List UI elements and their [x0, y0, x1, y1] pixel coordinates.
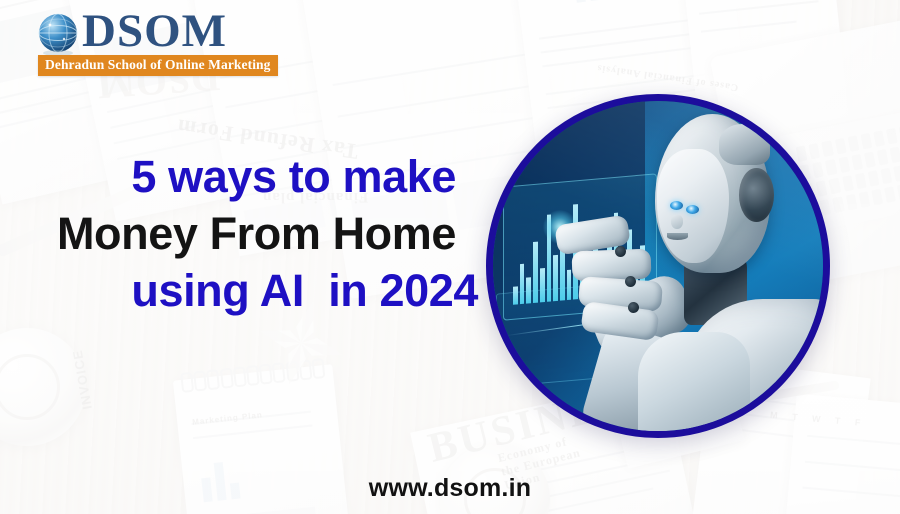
headline-line-3: using AI in 2024: [0, 262, 492, 319]
robot-chest: [638, 332, 750, 438]
poster-canvas: INVOICE Tax Refund Form Financial plan C…: [0, 0, 900, 514]
robot-knuckle-joint: [625, 276, 636, 287]
robot-head: [655, 114, 771, 272]
headline-block: 5 ways to make Money From Home using AI …: [0, 148, 492, 319]
robot-ear-module: [739, 168, 774, 222]
headline-line-1: 5 ways to make: [0, 148, 492, 205]
robot-eye: [670, 201, 683, 210]
globe-icon: [36, 12, 80, 56]
robot-illustration: [493, 101, 823, 431]
brand-tagline: Dehradun School of Online Marketing: [38, 55, 278, 76]
website-url[interactable]: www.dsom.in: [0, 474, 900, 503]
robot-hero-image: [486, 94, 830, 438]
brand-name: DSOM: [82, 8, 227, 55]
robot-faceplate: [657, 149, 729, 263]
robot-nose: [671, 215, 682, 229]
brand-logo[interactable]: DSOM Dehradun School of Online Marketing: [36, 8, 268, 70]
robot-eye: [686, 205, 699, 214]
headline-line-2: Money From Home: [0, 205, 492, 262]
robot-finger: [572, 248, 652, 280]
robot-mouth: [667, 233, 688, 240]
